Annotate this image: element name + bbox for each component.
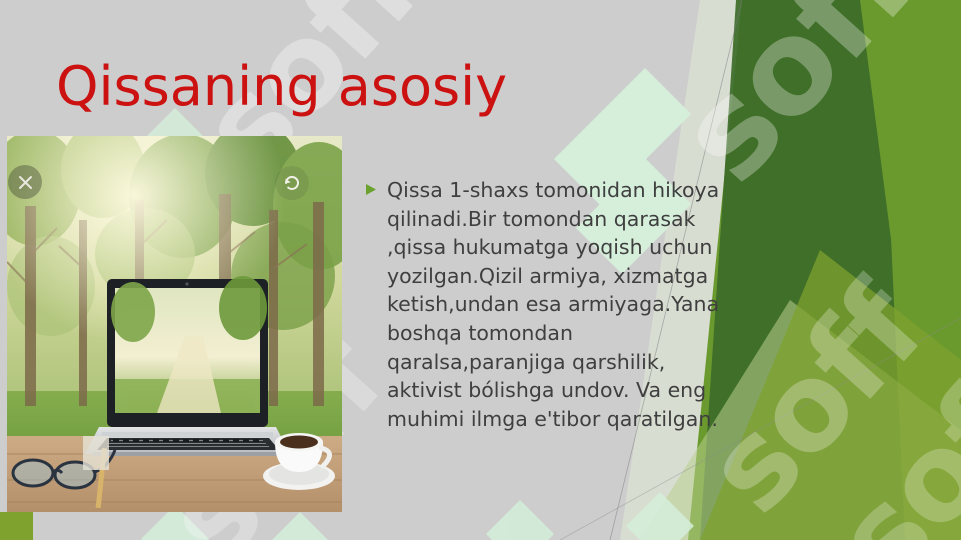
bullet-text: Qissa 1-shaxs tomonidan hikoya qilinadi.…	[387, 176, 725, 433]
content-placeholder: Qissa 1-shaxs tomonidan hikoya qilinadi.…	[365, 176, 725, 433]
accent-block	[0, 512, 33, 540]
laptop-in-forest-photo[interactable]	[7, 136, 342, 512]
close-icon[interactable]	[8, 165, 42, 199]
slide-title: Qissaning asosiy	[56, 57, 507, 116]
bullet-list-item: Qissa 1-shaxs tomonidan hikoya qilinadi.…	[365, 176, 725, 433]
presentation-slide: soff soff soff soff soff Qissaning asosi…	[0, 0, 961, 540]
rotate-icon[interactable]	[275, 166, 309, 200]
triangle-right-bullet-icon	[365, 176, 387, 196]
